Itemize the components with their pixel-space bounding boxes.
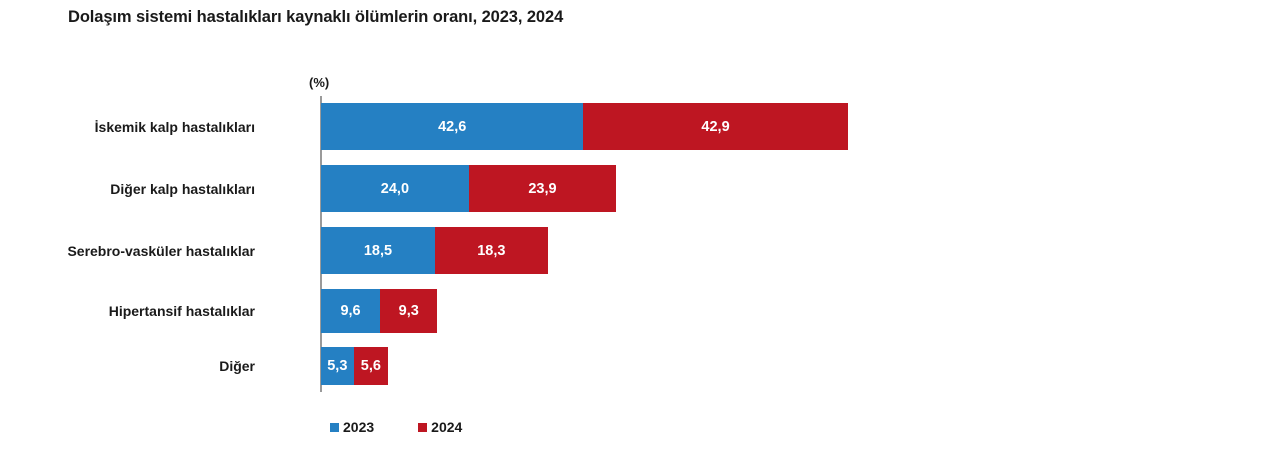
bar-value-label: 24,0	[381, 181, 409, 197]
bar-value-label: 5,6	[361, 358, 381, 374]
bar-segment-2024[interactable]: 18,3	[435, 227, 548, 274]
bar-value-label: 23,9	[528, 181, 556, 197]
bar-segment-2023[interactable]: 24,0	[321, 165, 469, 212]
bar-segment-2023[interactable]: 42,6	[321, 103, 583, 150]
chart-page: Dolaşım sistemi hastalıkları kaynaklı öl…	[0, 0, 1280, 466]
bar-row: Diğer kalp hastalıkları 24,0 23,9	[0, 165, 1280, 212]
legend-item-2024[interactable]: 2024	[418, 419, 462, 435]
bar-value-label: 9,3	[399, 303, 419, 319]
bar-row: Hipertansif hastalıklar 9,6 9,3	[0, 289, 1280, 333]
plot-area: (%) İskemik kalp hastalıkları 42,6 42,9 …	[0, 0, 1280, 466]
category-label: Diğer kalp hastalıkları	[110, 181, 255, 197]
bar-segment-2023[interactable]: 18,5	[321, 227, 435, 274]
bar-value-label: 18,5	[364, 243, 392, 259]
bar-value-label: 9,6	[340, 303, 360, 319]
bar-segment-2024[interactable]: 9,3	[380, 289, 437, 333]
bar-value-label: 5,3	[327, 358, 347, 374]
legend-label: 2023	[343, 419, 374, 435]
bar-value-label: 42,6	[438, 119, 466, 135]
legend-swatch-icon	[418, 423, 427, 432]
bar-value-label: 18,3	[477, 243, 505, 259]
bar-row: Serebro-vasküler hastalıklar 18,5 18,3	[0, 227, 1280, 274]
category-label: Hipertansif hastalıklar	[109, 303, 255, 319]
bar-segment-2024[interactable]: 42,9	[583, 103, 847, 150]
bar-row: İskemik kalp hastalıkları 42,6 42,9	[0, 103, 1280, 150]
bar-segment-2024[interactable]: 23,9	[469, 165, 616, 212]
bar-segment-2023[interactable]: 9,6	[321, 289, 380, 333]
legend-item-2023[interactable]: 2023	[330, 419, 374, 435]
bar-row: Diğer 5,3 5,6	[0, 347, 1280, 385]
bar-segment-2024[interactable]: 5,6	[354, 347, 388, 385]
category-label: Diğer	[219, 358, 255, 374]
legend-swatch-icon	[330, 423, 339, 432]
axis-unit-label: (%)	[309, 75, 329, 90]
bar-value-label: 42,9	[701, 119, 729, 135]
bar-segment-2023[interactable]: 5,3	[321, 347, 354, 385]
category-label: İskemik kalp hastalıkları	[95, 119, 255, 135]
category-label: Serebro-vasküler hastalıklar	[67, 243, 255, 259]
legend-label: 2024	[431, 419, 462, 435]
legend: 2023 2024	[330, 419, 462, 435]
